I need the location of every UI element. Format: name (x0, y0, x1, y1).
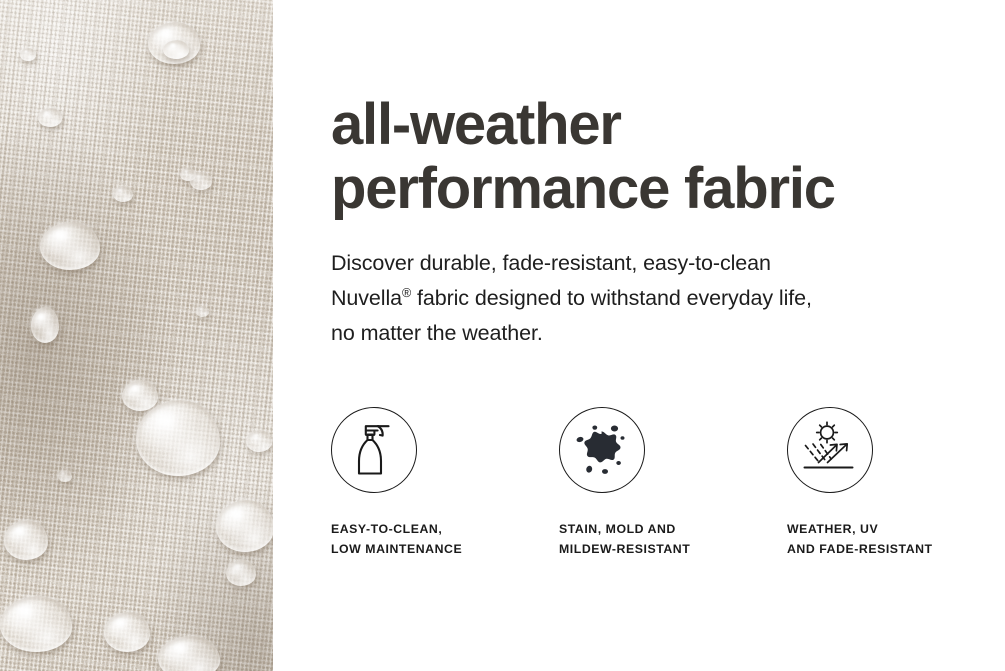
feature-item-weather-uv-resistant: WEATHER, UV AND FADE-RESISTANT (787, 407, 1005, 559)
registered-trademark-symbol: ® (402, 286, 411, 300)
water-droplet (216, 500, 273, 552)
fabric-water-beading-photo (0, 0, 273, 671)
feature-item-easy-to-clean: EASY-TO-CLEAN, LOW MAINTENANCE (331, 407, 559, 559)
content-panel: all-weather performance fabric Discover … (273, 0, 1005, 671)
water-droplet (136, 400, 220, 476)
feature-caption: EASY-TO-CLEAN, LOW MAINTENANCE (331, 493, 559, 559)
feature-list: EASY-TO-CLEAN, LOW MAINTENANCE (331, 351, 1005, 559)
water-droplet (58, 470, 72, 482)
feature-caption: WEATHER, UV AND FADE-RESISTANT (787, 493, 1005, 559)
water-droplet (38, 108, 62, 127)
water-droplet (104, 612, 150, 652)
all-weather-performance-fabric-banner: all-weather performance fabric Discover … (0, 0, 1005, 671)
brand-name: Nuvella (331, 286, 402, 310)
water-droplet (190, 172, 212, 190)
feature-item-stain-resistant: STAIN, MOLD AND MILDEW-RESISTANT (559, 407, 787, 559)
subcopy-line-2: fabric designed to withstand everyday li… (411, 286, 812, 310)
sun-uv-reflect-icon (787, 407, 873, 493)
water-droplet (163, 40, 189, 59)
page-title: all-weather performance fabric (331, 0, 1005, 221)
subcopy-line-3: no matter the weather. (331, 321, 543, 345)
water-droplet (196, 306, 209, 317)
subcopy-line-1: Discover durable, fade-resistant, easy-t… (331, 251, 771, 275)
water-droplet (0, 596, 72, 652)
water-droplet (226, 560, 256, 586)
water-droplet (31, 307, 59, 343)
water-droplet (122, 380, 158, 411)
feature-caption: STAIN, MOLD AND MILDEW-RESISTANT (559, 493, 787, 559)
subcopy: Discover durable, fade-resistant, easy-t… (331, 221, 1005, 351)
water-droplet (246, 430, 272, 452)
spray-bottle-icon (331, 407, 417, 493)
water-droplet (113, 186, 133, 202)
water-droplet (20, 48, 36, 61)
water-droplet (4, 520, 48, 560)
stain-splatter-icon (559, 407, 645, 493)
water-droplet (40, 222, 100, 270)
